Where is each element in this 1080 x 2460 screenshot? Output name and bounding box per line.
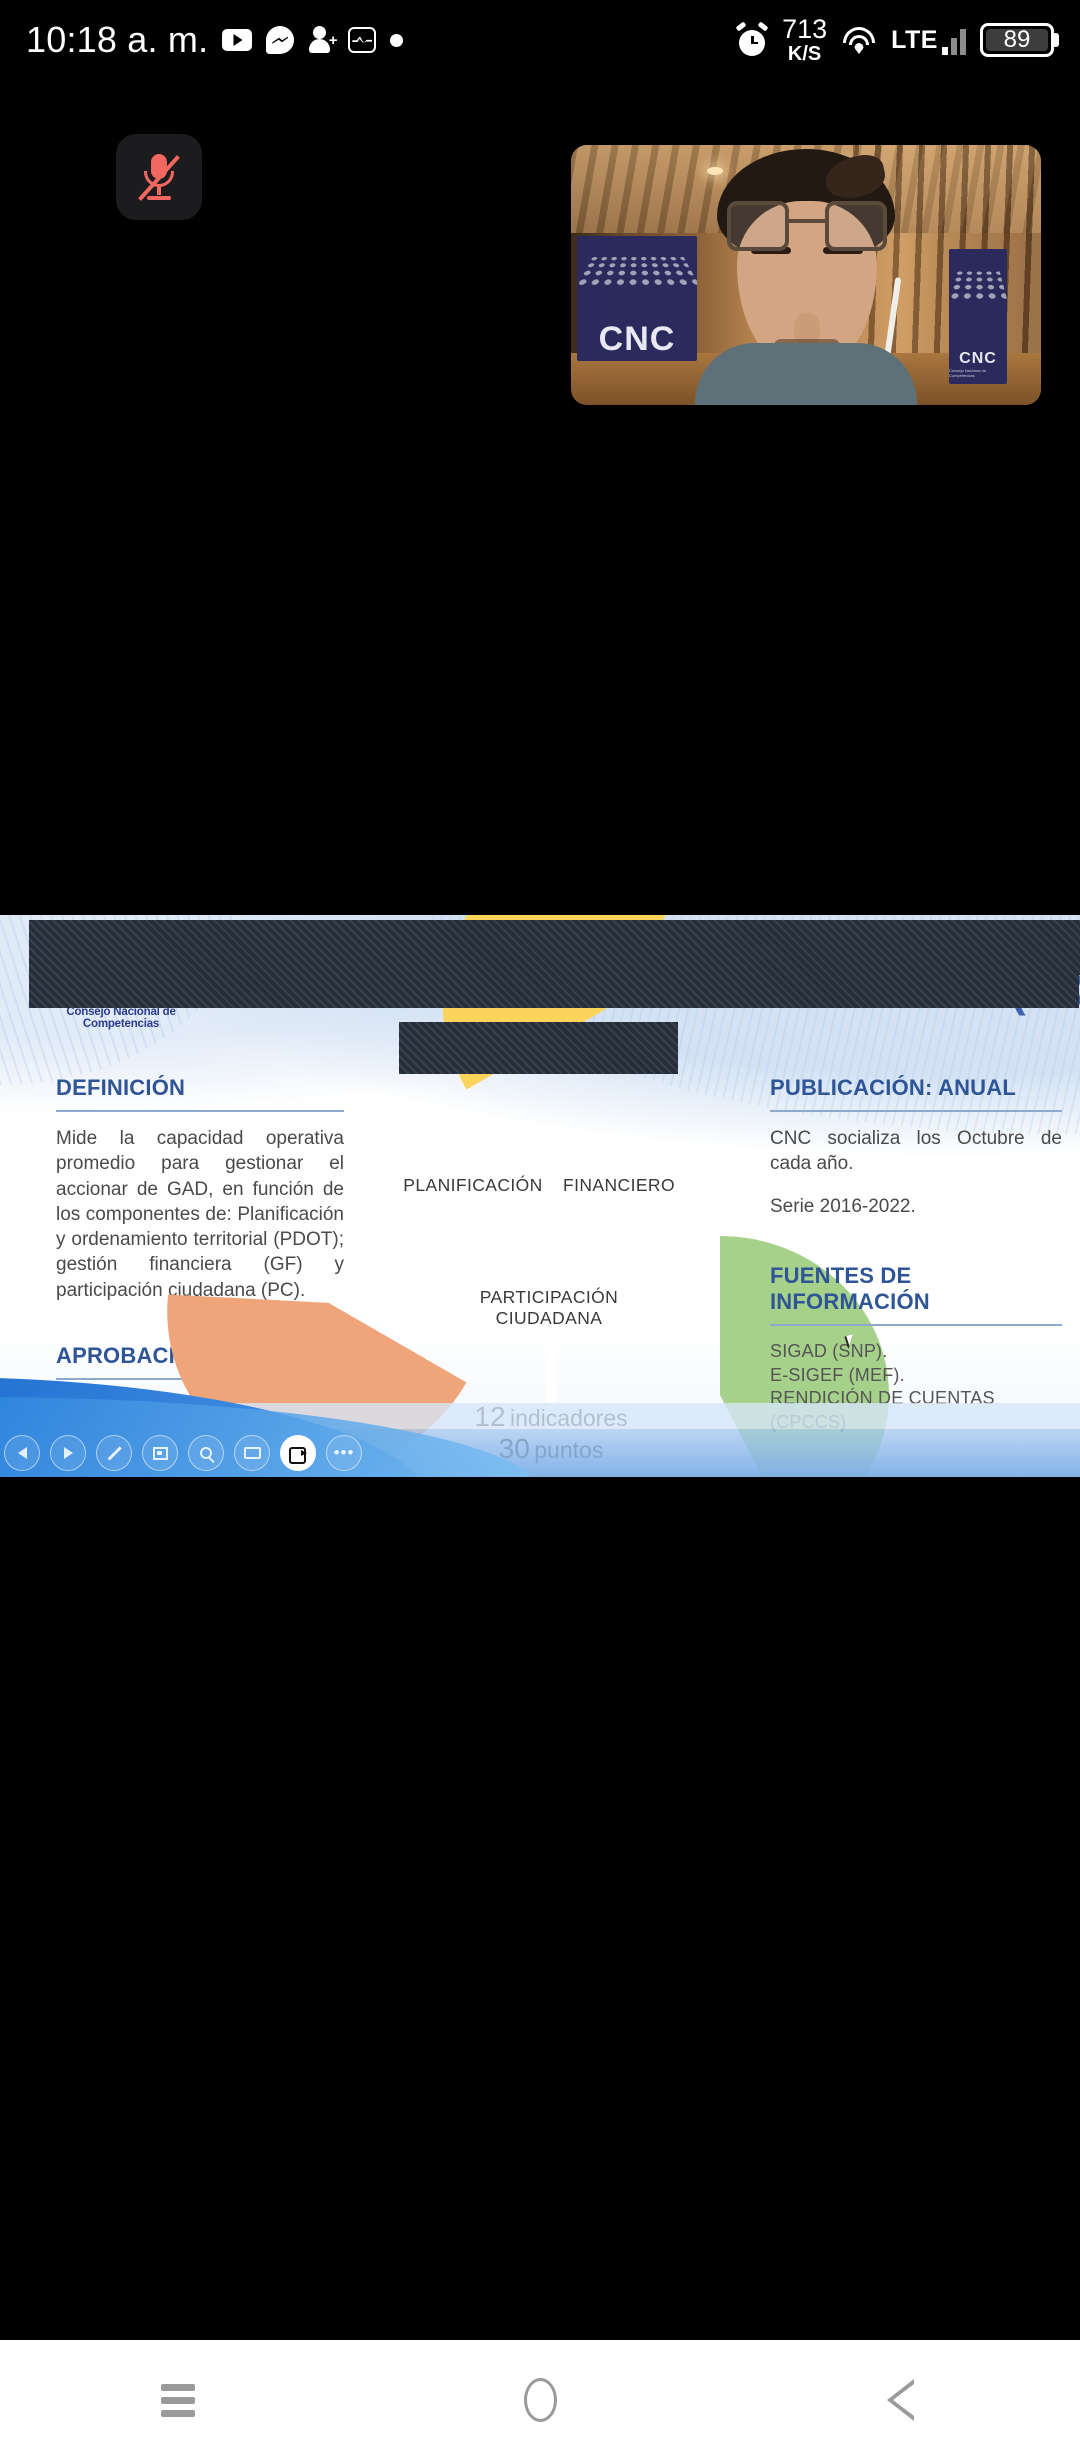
- health-pulse-icon: [348, 27, 376, 53]
- mobile-network-indicator: LTE: [891, 26, 966, 55]
- contact-add-icon: +: [308, 26, 334, 54]
- pen-button[interactable]: [96, 1435, 132, 1471]
- android-navigation-bar[interactable]: [0, 2340, 1080, 2460]
- back-button[interactable]: [720, 2377, 1080, 2423]
- battery-indicator: 89: [980, 23, 1054, 57]
- generic-dot-icon: [390, 34, 403, 47]
- pie-label-participacion-line1: PARTICIPACIÓN: [480, 1287, 618, 1307]
- recents-icon: [161, 2378, 199, 2423]
- participant-avatar: [691, 145, 921, 405]
- redaction-bar-top: [29, 920, 1079, 1008]
- sources-item-2: E-SIGEF (MEF).: [770, 1364, 1062, 1388]
- redaction-bar-middle: [399, 1022, 678, 1074]
- pie-label-planificacion: PLANIFICACIÓN: [398, 1175, 548, 1196]
- network-speed-indicator: 713 K/S: [782, 15, 827, 64]
- publication-heading: PUBLICACIÓN: ANUAL: [770, 1075, 1062, 1101]
- network-type-label: LTE: [891, 26, 938, 55]
- banner-right-text: CNC: [959, 352, 997, 366]
- publication-series: Serie 2016-2022.: [770, 1194, 1062, 1219]
- recents-button[interactable]: [0, 2378, 360, 2423]
- mic-glyph: [139, 154, 179, 200]
- camera-button[interactable]: [280, 1435, 316, 1471]
- messenger-icon: [266, 26, 294, 54]
- clock-time: 10:18 a. m.: [26, 19, 208, 61]
- phone-screen: 10:18 a. m. + 713 K/S LTE: [0, 0, 1080, 2460]
- screen-button[interactable]: [234, 1435, 270, 1471]
- youtube-icon: [222, 29, 252, 51]
- previous-slide-button[interactable]: [4, 1435, 40, 1471]
- network-speed-unit: K/S: [788, 44, 821, 65]
- microphone-muted-icon[interactable]: [116, 134, 202, 220]
- status-bar-left: 10:18 a. m. +: [26, 19, 403, 61]
- publication-rule: [770, 1110, 1062, 1112]
- battery-level-label: 89: [1004, 26, 1031, 54]
- eyeglasses: [727, 201, 887, 255]
- alarm-icon: [736, 24, 768, 56]
- video-frame: CNC CNC Consejo Nacional de Competencias: [571, 145, 1041, 405]
- next-slide-button[interactable]: [50, 1435, 86, 1471]
- pie-label-participacion: PARTICIPACIÓN CIUDADANA: [454, 1287, 644, 1328]
- home-button[interactable]: [360, 2378, 720, 2422]
- definition-body: Mide la capacidad operativa promedio par…: [56, 1126, 344, 1303]
- status-bar-right: 713 K/S LTE 89: [736, 15, 1054, 64]
- cnc-banner-right: CNC Consejo Nacional de Competencias: [949, 249, 1007, 384]
- pie-label-participacion-line2: CIUDADANA: [496, 1308, 603, 1328]
- presentation-toolbar[interactable]: •••: [4, 1435, 362, 1471]
- wifi-icon: [841, 26, 877, 54]
- sources-rule: [770, 1324, 1062, 1326]
- publication-section: PUBLICACIÓN: ANUAL CNC socializa los Oct…: [770, 1075, 1062, 1435]
- slide-grid-button[interactable]: [142, 1435, 178, 1471]
- definition-heading: DEFINICIÓN: [56, 1075, 344, 1101]
- sources-heading: FUENTES DE INFORMACIÓN: [770, 1263, 1062, 1315]
- banner-left-text: CNC: [599, 324, 676, 355]
- signal-bars-icon: [942, 29, 966, 55]
- back-icon: [885, 2377, 915, 2423]
- network-speed-value: 713: [782, 15, 827, 43]
- presentation-slide[interactable]: CNC Consejo Nacional de Competencias IND…: [0, 915, 1080, 1477]
- cnc-banner-left: CNC: [577, 236, 697, 361]
- sources-item-1: SIGAD (SNP).: [770, 1340, 1062, 1364]
- definition-rule: [56, 1110, 344, 1112]
- status-bar: 10:18 a. m. + 713 K/S LTE: [0, 0, 1080, 80]
- ico-pie-chart: PLANIFICACIÓN FINANCIERO PARTICIPACIÓN C…: [368, 1071, 734, 1401]
- pie-label-financiero: FINANCIERO: [544, 1175, 694, 1196]
- participant-video-tile[interactable]: CNC CNC Consejo Nacional de Competencias: [571, 145, 1041, 405]
- more-options-button[interactable]: •••: [326, 1435, 362, 1471]
- home-icon: [524, 2378, 557, 2422]
- publication-body: CNC socializa los Octubre de cada año.: [770, 1126, 1062, 1177]
- pie-graphic: [382, 1077, 720, 1395]
- zoom-button[interactable]: [188, 1435, 224, 1471]
- cnc-logo-subtitle: Consejo Nacional de Competencias: [28, 1006, 214, 1030]
- banner-right-subtext: Consejo Nacional de Competencias: [949, 368, 1007, 378]
